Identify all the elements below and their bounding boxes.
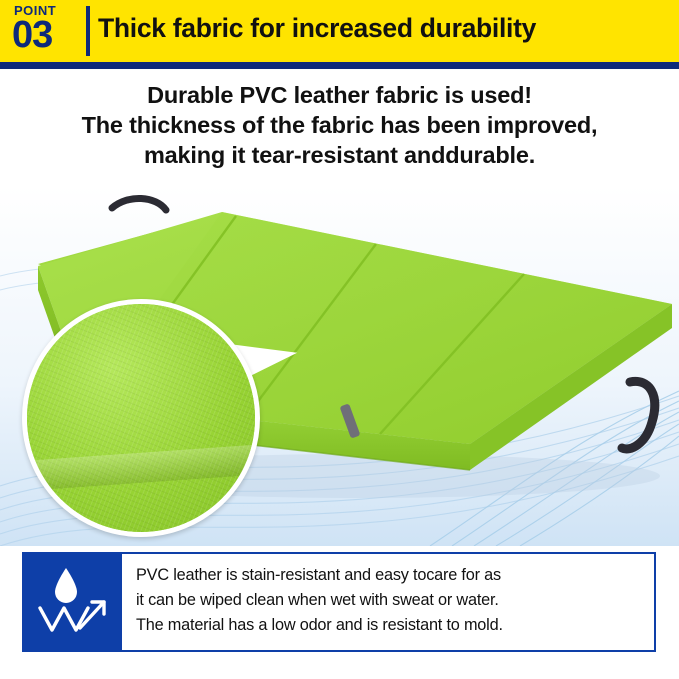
fabric-texture [22,299,260,537]
header-divider [86,6,90,56]
product-infographic-page: POINT 03 Thick fabric for increased dura… [0,0,679,679]
subheadline-line-3: making it tear-resistant anddurable. [0,140,679,170]
subheadline-line-1: Durable PVC leather fabric is used! [0,80,679,110]
subheadline-line-2: The thickness of the fabric has been imp… [0,110,679,140]
feature-note-text: PVC leather is stain-resistant and easy … [122,552,656,652]
fabric-closeup-circle [22,299,260,537]
feature-note-line-3: The material has a low odor and is resis… [136,613,644,638]
point-badge: POINT 03 [12,4,84,53]
feature-note-line-1: PVC leather is stain-resistant and easy … [136,563,644,588]
page-title: Thick fabric for increased durability [98,13,536,44]
feature-note: PVC leather is stain-resistant and easy … [22,552,656,652]
feature-note-line-2: it can be wiped clean when wet with swea… [136,588,644,613]
subheadline: Durable PVC leather fabric is used! The … [0,80,679,170]
point-number: 03 [12,17,84,53]
header-underline [0,62,679,69]
water-repellent-icon-svg [22,552,122,652]
water-repellent-icon [22,552,122,652]
